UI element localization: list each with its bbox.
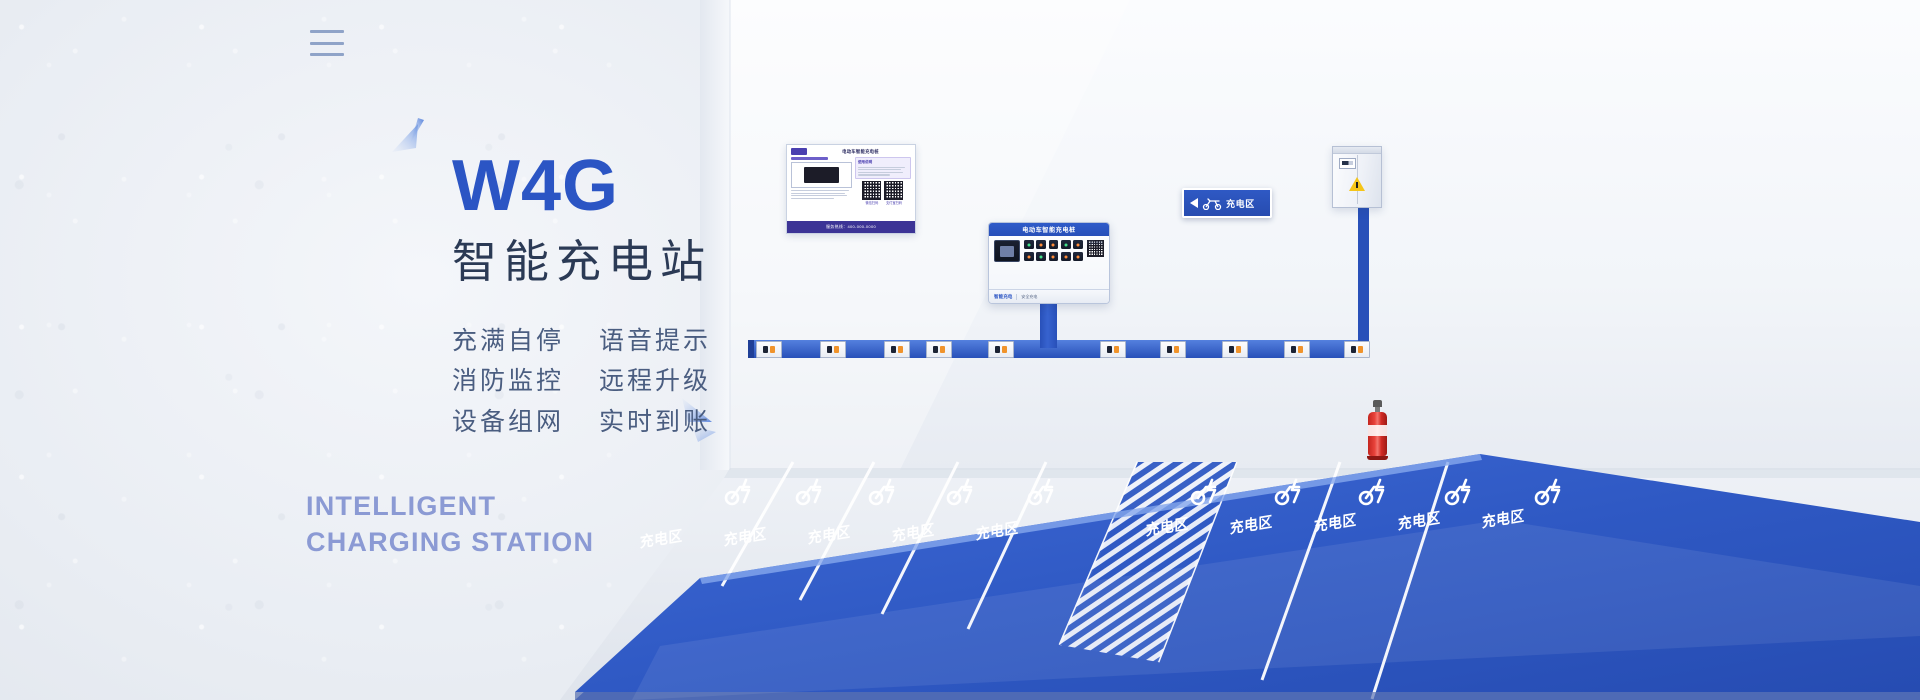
scooter-charge-icon — [1442, 478, 1486, 513]
poster-panel-title: 使用说明 — [858, 160, 908, 165]
bay-label: 充电区 — [1398, 507, 1441, 535]
bay-label: 充电区 — [1314, 509, 1357, 537]
bay-label: 充电区 — [808, 521, 851, 549]
qr-code-icon — [862, 181, 881, 200]
charging-port[interactable] — [1061, 252, 1071, 261]
direction-sign-text: 充电区 — [1226, 197, 1255, 210]
wall-socket-box[interactable] — [820, 341, 846, 358]
scooter-charge-icon — [1025, 478, 1069, 513]
charging-port[interactable] — [1073, 252, 1083, 261]
poster-diagram-column — [791, 157, 852, 205]
poster-text-line — [791, 198, 834, 199]
charging-pile-stem — [1040, 304, 1057, 348]
qr-code-icon — [884, 181, 903, 200]
poster-text-line — [858, 167, 905, 168]
poster-footer: 服务热线：400-000-0000 — [787, 221, 915, 233]
scooter-charge-icon — [1272, 478, 1316, 513]
feature-item: 充满自停 — [452, 324, 565, 360]
bay-label: 充电区 — [892, 519, 935, 547]
charging-port[interactable] — [1036, 240, 1046, 249]
poster-text-line — [791, 190, 849, 191]
charging-port[interactable] — [1073, 240, 1083, 249]
charging-station-illustration — [0, 0, 1920, 700]
poster-device-image — [791, 162, 852, 188]
scooter-icon — [1202, 197, 1222, 210]
scooter-charge-icon — [866, 478, 910, 513]
english-tagline: INTELLIGENT CHARGING STATION — [306, 488, 594, 561]
extinguisher-base — [1367, 456, 1388, 460]
wall-socket-box[interactable] — [884, 341, 910, 358]
poster-text-line — [858, 172, 903, 173]
poster-text-line — [858, 169, 901, 170]
cabinet-lid — [1333, 147, 1381, 154]
scooter-charge-icon — [722, 478, 766, 513]
wall-socket-box[interactable] — [1160, 341, 1186, 358]
scooter-charge-icon — [944, 478, 988, 513]
electric-meter-icon — [1339, 158, 1356, 169]
high-voltage-warning-icon — [1349, 177, 1365, 191]
charging-pile-port-grid — [1024, 240, 1083, 262]
fire-extinguisher — [1366, 400, 1388, 462]
menu-line — [310, 30, 344, 33]
wall-socket-box[interactable] — [756, 341, 782, 358]
direction-sign: 充电区 — [1182, 188, 1272, 218]
poster-text-line — [791, 193, 845, 194]
hero-copy: W4G 智能充电站 充满自停 语音提示 消防监控 远程升级 设备组网 实时到账 — [452, 150, 712, 440]
charging-pile-footer: 智能充电 安全充电 — [989, 289, 1109, 303]
menu-line — [310, 42, 344, 45]
english-tagline-line1: INTELLIGENT — [306, 488, 594, 524]
poster-body: 使用说明 微信扫码 支付宝扫码 — [791, 157, 911, 205]
wall-socket-box[interactable] — [926, 341, 952, 358]
scooter-charge-icon — [793, 478, 837, 513]
scooter-charge-icon — [1356, 478, 1400, 513]
wall-socket-box[interactable] — [1284, 341, 1310, 358]
poster-instructions-column: 使用说明 微信扫码 支付宝扫码 — [855, 157, 911, 205]
poster-accent-bar — [791, 157, 828, 160]
charging-pile-tag: 安全充电 — [1016, 294, 1037, 300]
poster-qr-caption: 支付宝扫码 — [884, 200, 903, 205]
poster-qr-item: 支付宝扫码 — [884, 181, 903, 206]
scooter-charge-icon — [1532, 478, 1576, 513]
english-tagline-line2: CHARGING STATION — [306, 524, 594, 560]
charging-pile[interactable]: 电动车智能充电桩 扫码充电 智能充电 安全充电 — [988, 222, 1110, 304]
charging-port[interactable] — [1036, 252, 1046, 261]
charging-port[interactable] — [1049, 252, 1059, 261]
extinguisher-label-band — [1368, 425, 1387, 436]
wall-socket-box[interactable] — [1222, 341, 1248, 358]
feature-item: 消防监控 — [452, 364, 565, 400]
wall-socket-box[interactable] — [988, 341, 1014, 358]
charging-port[interactable] — [1024, 240, 1034, 249]
poster-text-line — [858, 174, 890, 175]
poster-text-line — [791, 195, 847, 196]
poster-device-screen — [804, 167, 839, 183]
poster-qr-caption: 微信扫码 — [862, 200, 881, 205]
poster-header: 电动车智能充电桩 — [791, 148, 911, 155]
charging-port[interactable] — [1049, 240, 1059, 249]
charging-port[interactable] — [1024, 252, 1034, 261]
bay-label: 充电区 — [1230, 511, 1273, 539]
menu-line — [310, 53, 344, 56]
poster-qr-group: 微信扫码 支付宝扫码 — [855, 181, 911, 206]
bay-label: 充电区 — [640, 525, 683, 553]
page-subtitle: 智能充电站 — [452, 236, 712, 288]
feature-list: 充满自停 语音提示 消防监控 远程升级 设备组网 实时到账 — [452, 324, 712, 441]
menu-icon[interactable] — [310, 30, 344, 56]
charging-pile-qr-label: 扫码充电 — [1087, 240, 1103, 246]
extinguisher-handle — [1373, 400, 1382, 407]
decor-arrow-top-icon — [392, 118, 432, 160]
extinguisher-body — [1368, 412, 1387, 456]
poster-panel-lines — [858, 167, 908, 176]
charging-port[interactable] — [1061, 240, 1071, 249]
poster-instruction-panel: 使用说明 — [855, 157, 911, 179]
feature-item: 语音提示 — [599, 324, 712, 360]
feature-item: 远程升级 — [599, 364, 712, 400]
electrical-cabinet — [1332, 146, 1382, 208]
feature-item: 设备组网 — [452, 405, 565, 441]
wall-socket-box[interactable] — [1344, 341, 1370, 358]
poster-text-lines — [791, 190, 852, 199]
bay-label: 充电区 — [1482, 505, 1525, 533]
bay-label: 充电区 — [976, 517, 1019, 545]
charging-pile-title: 电动车智能充电桩 — [989, 223, 1109, 236]
left-arrow-icon — [1190, 198, 1198, 208]
scooter-charge-icon — [1188, 478, 1232, 513]
poster-title: 电动车智能充电桩 — [810, 149, 911, 155]
charging-pile-display[interactable] — [994, 240, 1020, 262]
poster-qr-item: 微信扫码 — [862, 181, 881, 206]
feature-item: 实时到账 — [599, 405, 712, 441]
wall-poster: 电动车智能充电桩 使用说明 — [786, 144, 916, 234]
charging-pile-brand: 智能充电 — [994, 294, 1012, 300]
poster-logo-icon — [791, 148, 807, 155]
hero-banner: W4G 智能充电站 充满自停 语音提示 消防监控 远程升级 设备组网 实时到账 … — [0, 0, 1920, 700]
page-title: W4G — [452, 150, 712, 222]
bay-label: 充电区 — [724, 523, 767, 551]
bay-label: 充电区 — [1146, 513, 1189, 541]
wall-socket-box[interactable] — [1100, 341, 1126, 358]
